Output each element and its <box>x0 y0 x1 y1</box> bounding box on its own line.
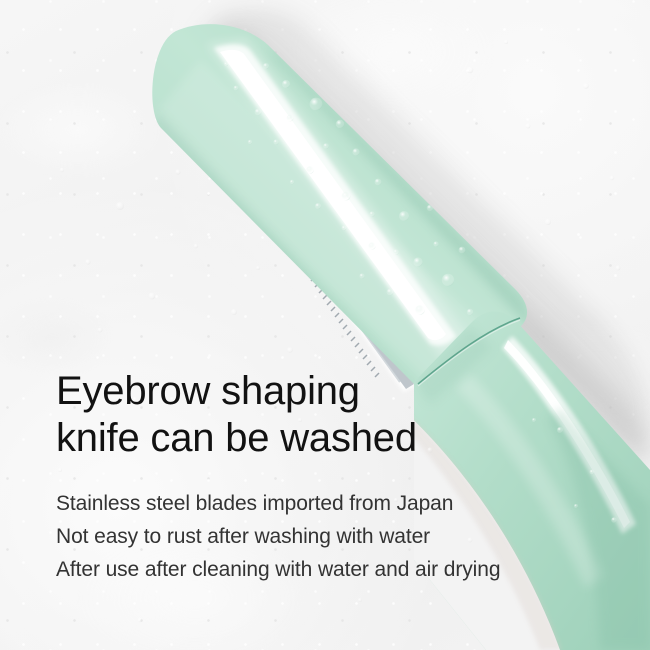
copy-block: Eyebrow shaping knife can be washed Stai… <box>56 368 596 586</box>
headline: Eyebrow shaping knife can be washed <box>56 368 596 462</box>
feature-item: After use after cleaning with water and … <box>56 553 596 586</box>
feature-item: Not easy to rust after washing with wate… <box>56 520 596 553</box>
feature-item: Stainless steel blades imported from Jap… <box>56 487 596 520</box>
product-poster: Eyebrow shaping knife can be washed Stai… <box>0 0 650 650</box>
feature-list: Stainless steel blades imported from Jap… <box>56 487 596 586</box>
